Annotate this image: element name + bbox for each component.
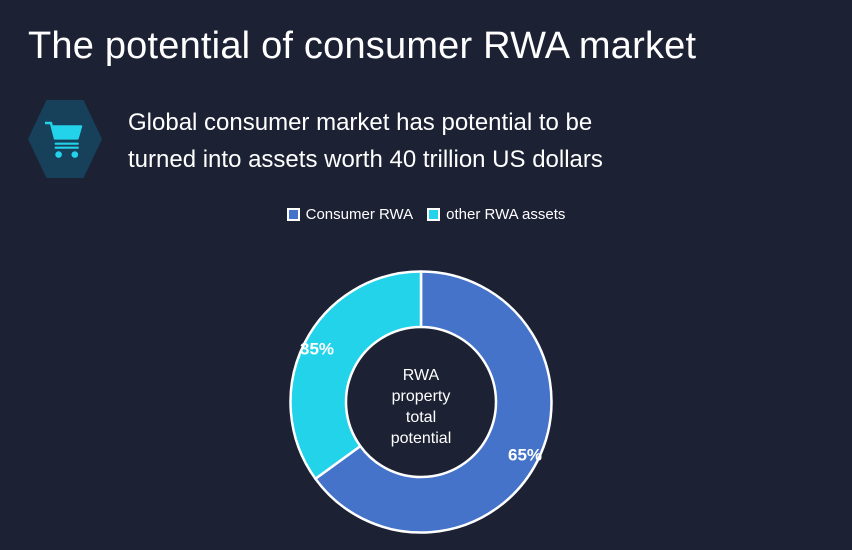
slice-value-label-other-rwa-assets: 35% xyxy=(300,340,334,359)
center-text-line-2: property xyxy=(392,388,451,405)
slice-value-label-consumer-rwa: 65% xyxy=(508,446,542,465)
subtitle-row: Global consumer market has potential to … xyxy=(28,98,828,178)
center-text-line-1: RWA xyxy=(403,367,440,384)
legend-item-other-rwa-assets[interactable]: other RWA assets xyxy=(427,206,565,223)
page-title: The potential of consumer RWA market xyxy=(28,24,696,70)
donut-chart: 65% 35% RWA property total potential xyxy=(289,270,553,534)
donut-center-text: RWA property total potential xyxy=(391,367,452,447)
subtitle-line-1: Global consumer market has potential to … xyxy=(128,104,603,141)
hexagon-badge xyxy=(28,100,102,178)
chart-legend: Consumer RWA other RWA assets xyxy=(0,206,852,223)
subtitle-line-2: turned into assets worth 40 trillion US … xyxy=(128,141,603,178)
legend-label-other-rwa-assets: other RWA assets xyxy=(446,206,565,223)
subtitle-text: Global consumer market has potential to … xyxy=(128,98,603,178)
chart-area: 65% 35% RWA property total potential xyxy=(0,244,852,550)
center-text-line-4: potential xyxy=(391,430,452,447)
legend-label-consumer-rwa: Consumer RWA xyxy=(306,206,414,223)
legend-swatch-other-rwa-assets xyxy=(427,208,440,221)
legend-swatch-consumer-rwa xyxy=(287,208,300,221)
donut-slice-other-rwa-assets[interactable] xyxy=(291,272,422,479)
legend-item-consumer-rwa[interactable]: Consumer RWA xyxy=(287,206,414,223)
center-text-line-3: total xyxy=(406,409,436,426)
